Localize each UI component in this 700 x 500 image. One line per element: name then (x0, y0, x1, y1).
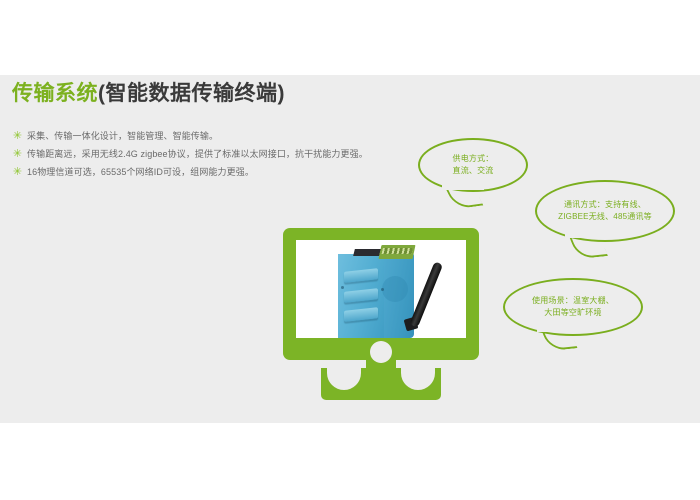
monitor-camera-hole (370, 341, 392, 363)
speech-bubble-power-supply: 供电方式： 直流、交流 (418, 138, 528, 192)
page-title-secondary: (智能数据传输终端) (98, 82, 285, 105)
asterisk-icon: ✳ (12, 166, 23, 179)
monitor-screen (296, 240, 466, 338)
speech-bubble-text: 使用场景：温室大棚、 大田等空旷环境 (505, 295, 641, 319)
asterisk-icon: ✳ (12, 130, 23, 143)
device-screw (341, 286, 344, 289)
device-connector-port (353, 249, 381, 256)
speech-bubble-tail-mask (442, 180, 484, 190)
speech-bubble-tail-mask (565, 228, 609, 238)
asterisk-icon: ✳ (12, 148, 23, 161)
list-item: ✳ 采集、传输一体化设计，智能管理、智能传输。 (12, 130, 432, 143)
device-terminal-block (379, 245, 416, 259)
data-transmission-terminal-device (296, 240, 466, 338)
speech-bubble-tail-mask (537, 322, 579, 332)
speech-bubble-communication: 通讯方式：支持有线、 ZIGBEE无线、485通讯等 (535, 180, 675, 242)
device-waist-shadow (382, 276, 408, 302)
list-item: ✳ 传输距离远，采用无线2.4G zigbee协议，提供了标准以太网接口，抗干扰… (12, 148, 432, 161)
antenna-icon (409, 261, 443, 327)
list-item: ✳ 16物理信道可选，65535个网络ID可设，组网能力更强。 (12, 166, 432, 179)
product-feature-page: 传输系统(智能数据传输终端) ✳ 采集、传输一体化设计，智能管理、智能传输。 ✳… (0, 0, 700, 500)
page-title-primary: 传输系统 (12, 82, 98, 105)
feature-text: 16物理信道可选，65535个网络ID可设，组网能力更强。 (23, 166, 254, 179)
computer-monitor-illustration (283, 228, 479, 418)
page-title: 传输系统(智能数据传输终端) (12, 80, 285, 108)
speech-bubble-text: 通讯方式：支持有线、 ZIGBEE无线、485通讯等 (537, 199, 673, 223)
speech-bubble-scenario: 使用场景：温室大棚、 大田等空旷环境 (503, 278, 643, 336)
feature-text: 采集、传输一体化设计，智能管理、智能传输。 (23, 130, 218, 143)
device-screw (381, 288, 384, 291)
feature-text: 传输距离远，采用无线2.4G zigbee协议，提供了标准以太网接口，抗干扰能力… (23, 148, 368, 161)
feature-list: ✳ 采集、传输一体化设计，智能管理、智能传输。 ✳ 传输距离远，采用无线2.4G… (12, 130, 432, 184)
speech-bubble-text: 供电方式： 直流、交流 (420, 153, 526, 177)
